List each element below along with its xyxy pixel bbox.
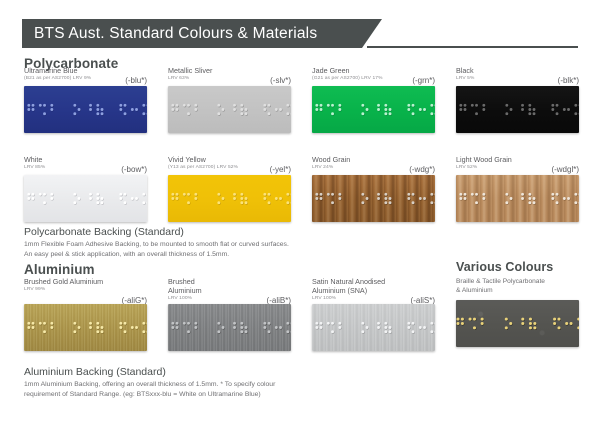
swatch-cell[interactable]: Jade Green(G21 as per AS2700) LRV 17%(-g… (312, 66, 435, 133)
swatch-meta: LRV 99% (24, 286, 147, 293)
swatch-cell[interactable]: WhiteLRV 85%(-bow*) (24, 155, 147, 222)
braille-dot-pattern (24, 175, 147, 222)
swatch-code: (-yel*) (270, 165, 291, 174)
swatch-name: Brushed (168, 277, 291, 286)
braille-dot-pattern (312, 86, 435, 133)
colour-swatch[interactable] (24, 175, 147, 222)
swatch-cell[interactable]: Ultramarine Blue(B21 as per AS2700) LRV … (24, 66, 147, 133)
swatch-code: (-blk*) (558, 76, 579, 85)
header-rule (367, 46, 578, 48)
section-title-aluminium: Aluminium (24, 262, 95, 277)
colour-swatch[interactable] (312, 304, 435, 351)
poly-backing-line2: An easy peel & stick application, with a… (24, 250, 229, 259)
colour-swatch[interactable] (456, 300, 579, 347)
swatch-cell[interactable]: Wood GrainLRV 24%(-wdg*) (312, 155, 435, 222)
alu-backing-line1: 1mm Aluminium Backing, offering an overa… (24, 380, 275, 389)
colour-swatch[interactable] (168, 86, 291, 133)
braille-dot-pattern (312, 175, 435, 222)
page-header: BTS Aust. Standard Colours & Materials (22, 19, 578, 49)
poly-backing-heading: Polycarbonate Backing (Standard) (24, 226, 184, 238)
alu-backing-line2: requirement of Standard Range. (eg: BTSx… (24, 390, 261, 399)
swatch-cell[interactable]: Vivid Yellow(Y13 as per AS2700) LRV 52%(… (168, 155, 291, 222)
swatch-cell[interactable]: Satin Natural AnodisedAluminium (SNA)LRV… (312, 277, 435, 351)
swatch-code: (-grn*) (412, 76, 435, 85)
braille-dot-pattern (168, 175, 291, 222)
braille-dot-pattern (456, 175, 579, 222)
swatch-cell[interactable]: BlackLRV 5%(-blk*) (456, 66, 579, 133)
various-sub-line1: Braille & Tactile Polycarbonate (456, 277, 545, 286)
section-title-various: Various Colours (456, 260, 553, 274)
swatch-name: Jade Green (312, 66, 435, 75)
braille-dot-pattern (168, 304, 291, 351)
swatch-cell[interactable]: Light Wood GrainLRV 52%(-wdgl*) (456, 155, 579, 222)
colour-swatch[interactable] (24, 86, 147, 133)
colour-swatch[interactable] (24, 304, 147, 351)
datasheet-page: BTS Aust. Standard Colours & Materials P… (0, 0, 600, 422)
colour-swatch[interactable] (168, 304, 291, 351)
various-sub-line2: & Aluminium (456, 286, 493, 295)
swatch-name: Light Wood Grain (456, 155, 579, 164)
poly-backing-line1: 1mm Flexible Foam Adhesive Backing, to b… (24, 240, 289, 249)
braille-dot-pattern (312, 304, 435, 351)
braille-dot-pattern (456, 300, 579, 347)
colour-swatch[interactable] (456, 86, 579, 133)
swatch-cell[interactable]: BrushedAluminiumLRV 100%(-aliB*) (168, 277, 291, 351)
swatch-code: (-slv*) (270, 76, 291, 85)
swatch-cell[interactable]: Brushed Gold AluminiumLRV 99%(-aliG*) (24, 277, 147, 351)
swatch-code: (-bow*) (121, 165, 147, 174)
swatch-name: Satin Natural Anodised (312, 277, 435, 286)
swatch-name: White (24, 155, 147, 164)
page-title: BTS Aust. Standard Colours & Materials (22, 25, 317, 43)
swatch-name: Metallic Sliver (168, 66, 291, 75)
header-banner: BTS Aust. Standard Colours & Materials (22, 19, 382, 48)
braille-dot-pattern (456, 86, 579, 133)
swatch-cell[interactable] (456, 300, 579, 347)
swatch-name-line2: Aluminium (SNA) (312, 286, 435, 295)
swatch-name-line2: Aluminium (168, 286, 291, 295)
swatch-name: Wood Grain (312, 155, 435, 164)
colour-swatch[interactable] (168, 175, 291, 222)
swatch-name: Vivid Yellow (168, 155, 291, 164)
swatch-code: (-wdg*) (409, 165, 435, 174)
braille-dot-pattern (24, 304, 147, 351)
colour-swatch[interactable] (312, 175, 435, 222)
colour-swatch[interactable] (456, 175, 579, 222)
swatch-cell[interactable]: Metallic SliverLRV 63%(-slv*) (168, 66, 291, 133)
braille-dot-pattern (24, 86, 147, 133)
swatch-code: (-blu*) (125, 76, 147, 85)
braille-dot-pattern (168, 86, 291, 133)
swatch-name: Black (456, 66, 579, 75)
swatch-name: Ultramarine Blue (24, 66, 147, 75)
swatch-code: (-wdgl*) (551, 165, 579, 174)
swatch-name: Brushed Gold Aluminium (24, 277, 147, 286)
colour-swatch[interactable] (312, 86, 435, 133)
alu-backing-heading: Aluminium Backing (Standard) (24, 366, 166, 378)
